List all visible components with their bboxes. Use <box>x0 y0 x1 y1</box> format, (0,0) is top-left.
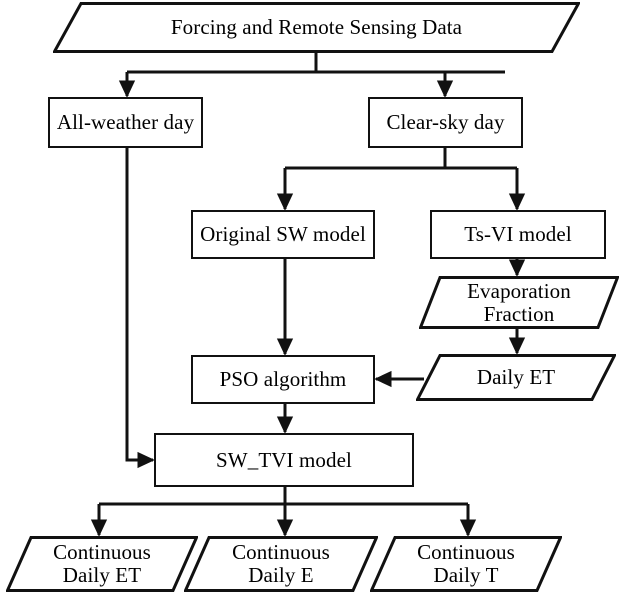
node-continuous-daily-t[interactable]: Continuous Daily T <box>370 536 562 592</box>
node-evaporation-fraction[interactable]: Evaporation Fraction <box>419 276 619 329</box>
node-all-weather-day[interactable]: All-weather day <box>48 97 203 148</box>
node-label: Original SW model <box>200 223 366 246</box>
node-forcing-and-remote-sensing-data[interactable]: Forcing and Remote Sensing Data <box>53 2 580 53</box>
node-label: Evaporation Fraction <box>467 280 571 325</box>
node-continuous-daily-et[interactable]: Continuous Daily ET <box>6 536 198 592</box>
node-label: Ts-VI model <box>464 223 572 246</box>
node-pso-algorithm[interactable]: PSO algorithm <box>191 355 375 404</box>
node-label: Continuous Daily E <box>232 541 330 586</box>
node-label: Daily ET <box>477 366 555 389</box>
node-label: Clear-sky day <box>386 111 504 134</box>
node-original-sw-model[interactable]: Original SW model <box>191 210 375 259</box>
edge-allweather-swtvi <box>127 148 153 460</box>
node-daily-et[interactable]: Daily ET <box>416 354 616 401</box>
node-continuous-daily-e[interactable]: Continuous Daily E <box>184 536 378 592</box>
flowchart-canvas: Forcing and Remote Sensing Data All-weat… <box>0 0 624 607</box>
node-label: Forcing and Remote Sensing Data <box>171 16 462 39</box>
node-label: SW_TVI model <box>216 449 352 472</box>
node-ts-vi-model[interactable]: Ts-VI model <box>430 210 606 259</box>
node-label: Continuous Daily T <box>417 541 515 586</box>
node-label: All-weather day <box>57 111 194 134</box>
node-label: Continuous Daily ET <box>53 541 151 586</box>
node-clear-sky-day[interactable]: Clear-sky day <box>368 97 523 148</box>
node-sw-tvi-model[interactable]: SW_TVI model <box>154 433 414 487</box>
node-label: PSO algorithm <box>220 368 347 391</box>
